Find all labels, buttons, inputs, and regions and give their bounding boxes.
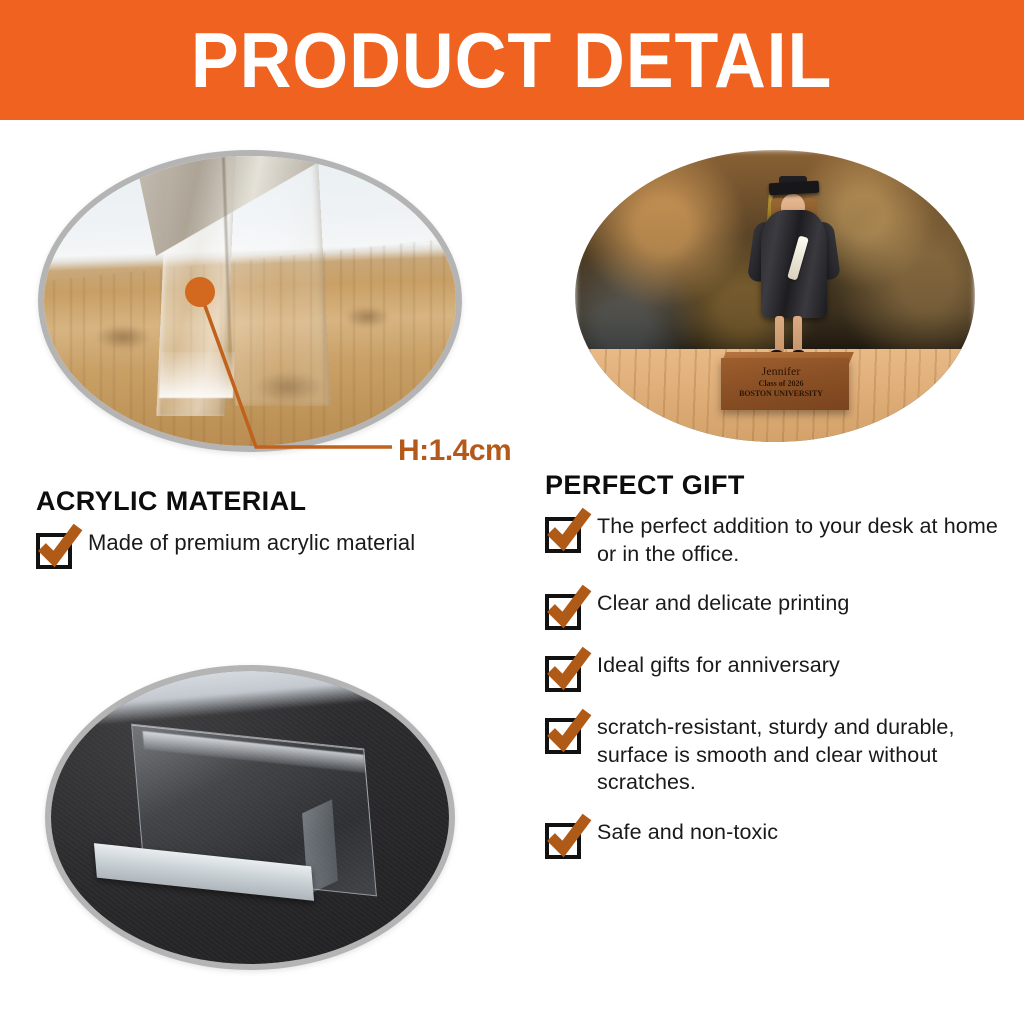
checkbox-checked-icon[interactable] (545, 594, 581, 630)
page-title: PRODUCT DETAIL (191, 21, 832, 99)
list-item: Made of premium acrylic material (36, 529, 516, 569)
wood-knot (96, 324, 150, 350)
graduation-cap-icon (769, 181, 820, 196)
photo-graduate-figurine: Jennifer Class of 2026 BOSTON UNIVERSITY (575, 150, 975, 442)
feature-list-acrylic-material: Made of premium acrylic material (36, 529, 516, 569)
checkmark-icon (34, 521, 86, 573)
feature-text: Made of premium acrylic material (88, 529, 415, 557)
leg-right (793, 316, 802, 354)
feature-text: Safe and non-toxic (597, 819, 778, 847)
checkmark-icon (543, 706, 595, 758)
checkbox-checked-icon[interactable] (545, 823, 581, 859)
engraved-class: Class of 2026 (725, 379, 837, 389)
list-item: Clear and delicate printing (545, 590, 1005, 630)
checkbox-checked-icon[interactable] (36, 533, 72, 569)
list-item: Ideal gifts for anniversary (545, 652, 1005, 692)
feature-list-perfect-gift: The perfect addition to your desk at hom… (545, 513, 1005, 859)
checkbox-checked-icon[interactable] (545, 656, 581, 692)
checkmark-icon (543, 811, 595, 863)
checkmark-icon (543, 582, 595, 634)
section-heading-acrylic-material: ACRYLIC MATERIAL (36, 486, 516, 517)
list-item: The perfect addition to your desk at hom… (545, 513, 1005, 568)
header-banner: PRODUCT DETAIL (0, 0, 1024, 120)
checkbox-checked-icon[interactable] (545, 517, 581, 553)
checkbox-checked-icon[interactable] (545, 718, 581, 754)
acrylic-slab-highlight (159, 352, 235, 398)
section-perfect-gift: PERFECT GIFT The perfect addition to you… (545, 470, 1005, 881)
feature-text: scratch-resistant, sturdy and durable, s… (597, 714, 1005, 797)
wood-knot (344, 306, 390, 328)
base-engraving: Jennifer Class of 2026 BOSTON UNIVERSITY (725, 364, 837, 399)
list-item: scratch-resistant, sturdy and durable, s… (545, 714, 1005, 797)
photo-acrylic-edge (38, 150, 462, 452)
section-acrylic-material: ACRYLIC MATERIAL Made of premium acrylic… (36, 486, 516, 591)
engraved-school: BOSTON UNIVERSITY (725, 389, 837, 399)
checkmark-icon (543, 505, 595, 557)
engraved-name: Jennifer (725, 364, 837, 379)
list-item: Safe and non-toxic (545, 819, 1005, 859)
section-heading-perfect-gift: PERFECT GIFT (545, 470, 1005, 501)
checkmark-icon (543, 644, 595, 696)
feature-text: Ideal gifts for anniversary (597, 652, 840, 680)
feature-text: The perfect addition to your desk at hom… (597, 513, 1005, 568)
photo-acrylic-block (45, 665, 455, 970)
feature-text: Clear and delicate printing (597, 590, 850, 618)
height-dimension-label: H:1.4cm (398, 434, 511, 468)
leg-left (775, 316, 784, 354)
